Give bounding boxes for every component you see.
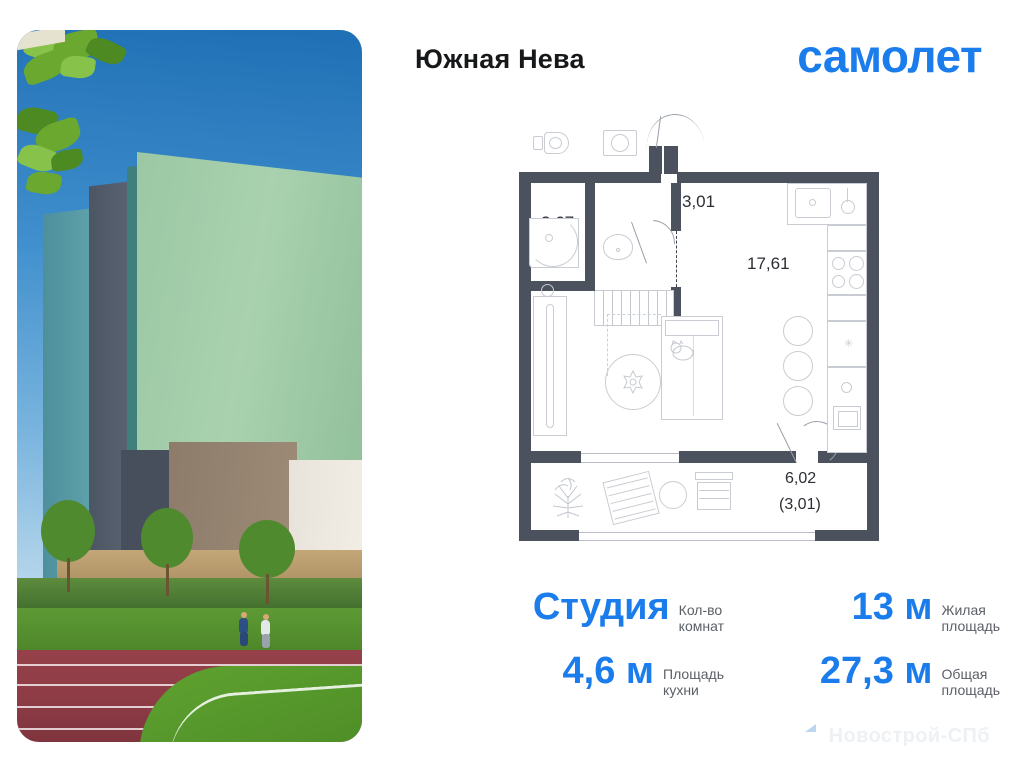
kitchen-faucet-icon — [837, 188, 859, 218]
apartment-stats: Студия Кол-во комнат 13 м Жилая площадь … — [420, 588, 1000, 717]
brand-logo: самолет — [797, 33, 982, 79]
balcony-area: 6,02 — [785, 470, 816, 488]
kitchen-sink-drain — [809, 199, 816, 206]
bed-pillow — [665, 320, 719, 336]
stats-row: 4,6 м Площадь кухни 27,3 м Общая площадь — [420, 652, 1000, 702]
stat-living-area: 13 м Жилая площадь — [852, 588, 1000, 638]
wall-balcony-bottom-l — [519, 530, 579, 541]
balcony-bench-icon — [695, 472, 733, 510]
window-balcony — [579, 532, 815, 541]
washing-machine-icon — [603, 130, 637, 156]
entry-door-swing — [643, 111, 704, 151]
stats-row: Студия Кол-во комнат 13 м Жилая площадь — [420, 588, 1000, 638]
oven-icon — [833, 406, 861, 430]
balcony-lounge-chair-icon — [602, 471, 659, 525]
wall-right — [867, 172, 879, 462]
wall-left-upper — [519, 172, 531, 462]
balcony-plant-icon — [547, 474, 589, 520]
stat-living-area-label: Жилая площадь — [942, 603, 1000, 634]
wall-bathroom-right — [585, 183, 595, 291]
stat-rooms: Студия Кол-во комнат — [533, 588, 724, 638]
wall-bottom-room-mid — [679, 451, 789, 463]
kitchen-cabinet-mid — [827, 295, 867, 321]
kitchen-cabinet-upper — [827, 225, 867, 251]
wall-bathroom-bottom — [519, 281, 595, 291]
wardrobe-rail — [546, 304, 554, 428]
project-photo — [17, 30, 362, 742]
stat-kitchen-area: 4,6 м Площадь кухни — [563, 652, 724, 702]
kitchen-stove-icon — [827, 251, 867, 295]
stat-total-area: 27,3 м Общая площадь — [820, 652, 1000, 702]
living-zone-outline — [607, 314, 661, 376]
toilet-icon — [533, 132, 569, 154]
watermark: Новострой-СПб — [829, 725, 990, 748]
stat-total-area-value: 27,3 м — [820, 652, 933, 690]
living-area: 17,61 — [747, 254, 790, 274]
wall-top-left — [519, 172, 661, 183]
wall-hall-right-upper — [671, 183, 681, 231]
bar-stool-1 — [783, 316, 813, 346]
stat-rooms-value: Студия — [533, 588, 670, 626]
balcony-table-icon — [659, 481, 687, 509]
wall-balcony-bottom-r — [815, 530, 879, 541]
page-title: Южная Нева — [415, 44, 585, 75]
stat-kitchen-area-value: 4,6 м — [563, 652, 655, 690]
bar-stool-2 — [783, 351, 813, 381]
hall-opening-dashed — [676, 231, 677, 287]
cat-icon — [669, 340, 695, 362]
floor-plan: 6,02 (3,01) 3,01 3,67 — [519, 118, 879, 558]
hallway-area: 3,01 — [682, 192, 715, 212]
stat-rooms-label: Кол-во комнат — [679, 603, 724, 634]
bar-stool-3 — [783, 386, 813, 416]
shower-icon — [529, 218, 579, 268]
stat-total-area-label: Общая площадь — [942, 667, 1000, 698]
stat-kitchen-area-label: Площадь кухни — [663, 667, 724, 698]
fridge-icon: ✳ — [827, 321, 867, 367]
balcony-area-coef: (3,01) — [779, 496, 821, 514]
wall-bottom-room-left — [519, 451, 581, 463]
wall-top-right — [677, 172, 879, 183]
stat-living-area-value: 13 м — [852, 588, 933, 626]
watermark-mark-icon — [805, 724, 816, 732]
window-living-room — [581, 453, 679, 463]
wardrobe-lamp-icon — [541, 284, 554, 297]
wall-entry-jamb-right — [664, 146, 678, 174]
kitchen-knob-icon — [841, 382, 852, 393]
